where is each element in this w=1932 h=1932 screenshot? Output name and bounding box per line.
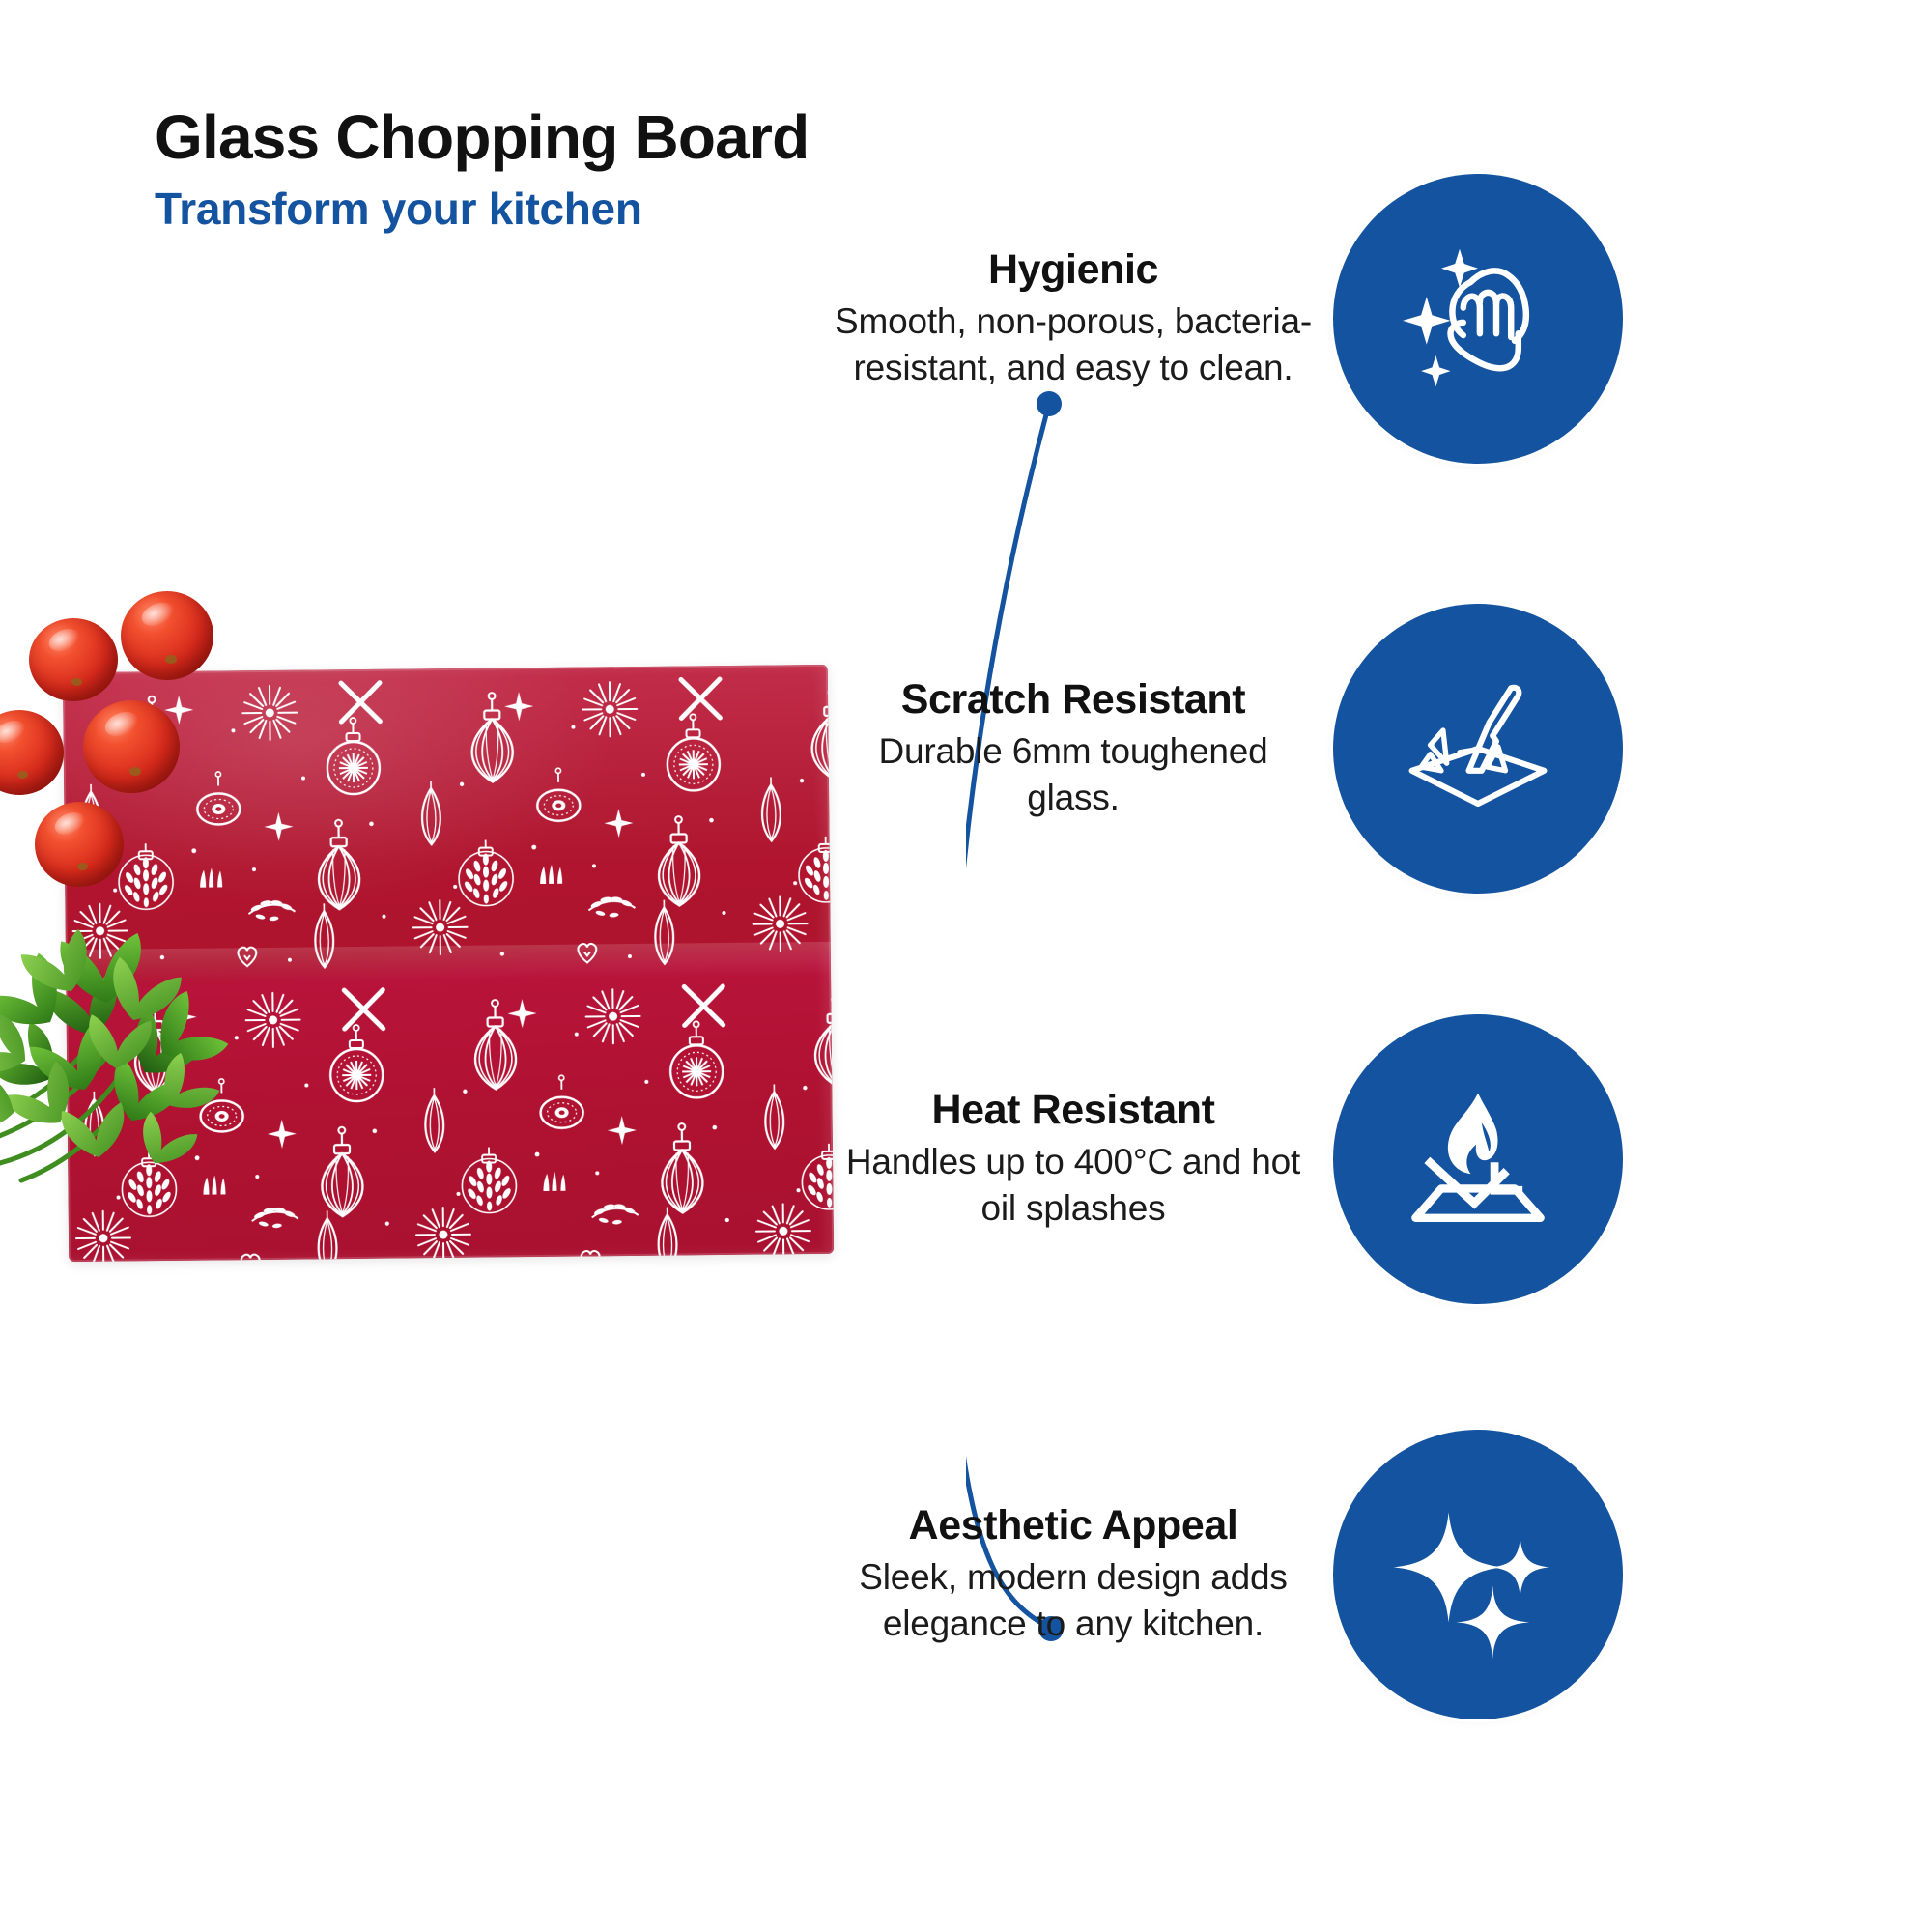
feature-text: Scratch Resistant Durable 6mm toughened … — [831, 676, 1333, 821]
feature-description: Handles up to 400°C and hot oil splashes — [831, 1139, 1316, 1232]
feature-description: Durable 6mm toughened glass. — [831, 728, 1316, 821]
cherry-tomato — [83, 700, 180, 793]
feature-icon-badge — [1333, 174, 1623, 464]
hand-wiping-sparkle-icon — [1386, 227, 1570, 411]
feature-icon-badge — [1333, 1430, 1623, 1719]
feature-title: Heat Resistant — [831, 1087, 1316, 1133]
feature-text: Heat Resistant Handles up to 400°C and h… — [831, 1087, 1333, 1232]
parsley-garnish — [0, 831, 269, 1188]
cherry-tomato — [0, 710, 64, 795]
knife-on-surface-icon — [1386, 657, 1570, 840]
feature-title: Scratch Resistant — [831, 676, 1316, 723]
tomato-stem-scar — [71, 678, 82, 686]
feature-icon-badge — [1333, 1014, 1623, 1304]
flame-deflect-surface-icon — [1386, 1067, 1570, 1251]
feature-icon-badge — [1333, 604, 1623, 894]
cherry-tomato — [29, 618, 118, 701]
tomato-stem-scar — [165, 655, 177, 663]
feature-text: Aesthetic Appeal Sleek, modern design ad… — [831, 1502, 1333, 1647]
feature-aesthetic-appeal: Aesthetic Appeal Sleek, modern design ad… — [831, 1430, 1623, 1719]
feature-title: Aesthetic Appeal — [831, 1502, 1316, 1548]
feature-text: Hygienic Smooth, non-porous, bacteria-re… — [831, 246, 1333, 391]
tomato-stem-scar — [129, 767, 141, 776]
feature-description: Sleek, modern design adds elegance to an… — [831, 1554, 1316, 1647]
page-title: Glass Chopping Board — [155, 104, 1121, 171]
feature-title: Hygienic — [831, 246, 1316, 293]
cherry-tomato — [121, 591, 213, 680]
feature-scratch-resistant: Scratch Resistant Durable 6mm toughened … — [831, 604, 1623, 894]
product-image — [0, 638, 869, 1352]
feature-description: Smooth, non-porous, bacteria-resistant, … — [831, 298, 1316, 391]
feature-heat-resistant: Heat Resistant Handles up to 400°C and h… — [831, 1014, 1623, 1304]
feature-hygienic: Hygienic Smooth, non-porous, bacteria-re… — [831, 174, 1623, 464]
sparkles-icon — [1386, 1483, 1570, 1666]
